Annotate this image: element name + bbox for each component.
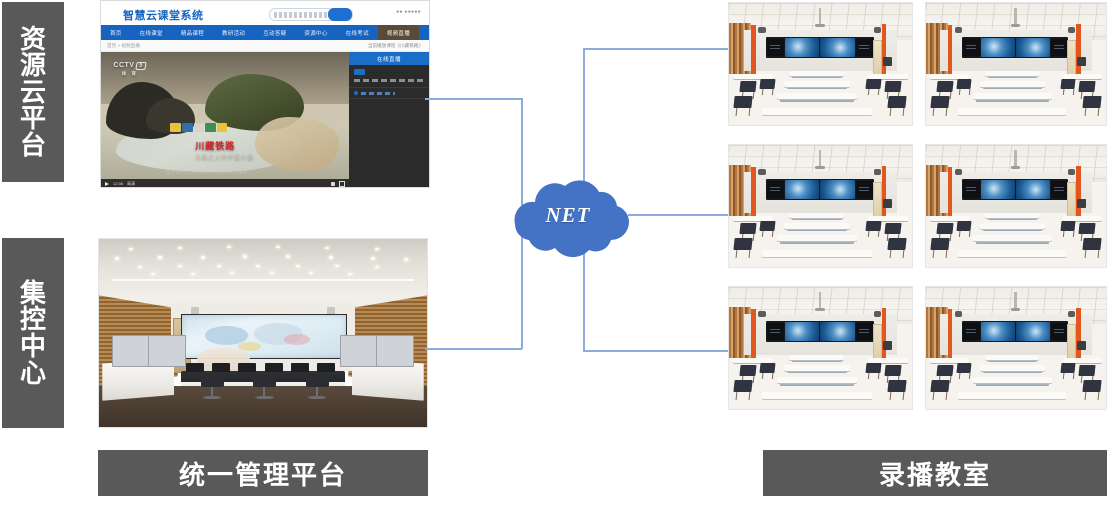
breadcrumb: 首页 > 视频直播 当前播放课程《川藏铁路》 <box>101 40 429 52</box>
breadcrumb-current-course: 当前播放课程《川藏铁路》 <box>368 43 423 49</box>
side-panel-list-item[interactable] <box>349 87 429 99</box>
label-char: 源 <box>20 52 46 79</box>
breadcrumb-path: 首页 > 视频直播 <box>107 43 140 49</box>
nav-item-research[interactable]: 教研活动 <box>213 25 254 40</box>
fullscreen-icon[interactable] <box>339 181 345 187</box>
nav-item-resources[interactable]: 资源中心 <box>295 25 336 40</box>
search-input[interactable] <box>269 8 353 21</box>
classroom-photo-5 <box>728 286 913 410</box>
connector-row3 <box>583 350 728 352</box>
ceiling-microphone-icon <box>1014 150 1017 167</box>
label-char: 控 <box>20 306 46 333</box>
ceiling-camera-icon <box>955 27 962 33</box>
search-button[interactable] <box>328 8 352 21</box>
video-player[interactable]: CCTV 5 体 育 川藏铁路 天路之上的中国力量 世界屋脊上的超级工程正在加速… <box>101 52 349 188</box>
office-chair <box>201 374 224 398</box>
label-char: 资 <box>20 26 46 53</box>
connector-platform-horizontal <box>425 98 522 100</box>
list-item-text <box>361 92 395 95</box>
classroom-display-board <box>766 37 874 58</box>
office-chair <box>253 374 276 398</box>
classroom-photo-1 <box>728 2 913 126</box>
cctv-text: CCTV <box>113 62 134 69</box>
webapp-navbar: 首页 在线课堂 精品课程 教研活动 互动答疑 资源中心 在线考试 视频直播 <box>101 25 429 40</box>
nav-item-online-class[interactable]: 在线课堂 <box>131 25 172 40</box>
classroom-display-board <box>962 321 1068 342</box>
video-program-title: 川藏铁路 <box>195 139 235 152</box>
webapp-header: 智慧云课堂系统 ●● ●●●●● <box>101 1 429 25</box>
label-char: 心 <box>20 360 46 387</box>
side-panel-header: 在线直播 <box>349 52 429 65</box>
classroom-display-board <box>962 37 1068 58</box>
cctv-subtitle: 体 育 <box>122 71 138 77</box>
connector-row1 <box>583 48 728 50</box>
video-time: 12:36 <box>113 181 123 186</box>
classroom-photo-2 <box>925 2 1107 126</box>
video-control-bar[interactable]: 12:36 高清 <box>101 179 349 188</box>
classroom-display-board <box>766 179 874 200</box>
side-panel-list-text <box>354 79 424 82</box>
label-char: 中 <box>20 333 46 360</box>
monitor <box>376 335 414 367</box>
classroom-photo-6 <box>925 286 1107 410</box>
list-bullet-icon <box>354 91 358 95</box>
nav-item-quality-course[interactable]: 精品课程 <box>172 25 213 40</box>
footer-label-recording-classroom: 录播教室 <box>763 450 1107 496</box>
network-cloud-label: NET <box>495 172 641 258</box>
connector-control-horizontal <box>425 348 522 350</box>
control-center-photo <box>98 238 428 428</box>
ceiling-camera-icon <box>955 169 962 175</box>
ceiling-microphone-icon <box>1014 292 1017 309</box>
ceiling-camera-icon <box>758 311 765 317</box>
section-label-cloud-platform: 资 源 云 平 台 <box>2 2 64 182</box>
search-placeholder-text <box>274 12 330 18</box>
nav-item-qa[interactable]: 互动答疑 <box>254 25 295 40</box>
connector-cloud-to-right <box>628 214 728 216</box>
nav-item-exam[interactable]: 在线考试 <box>337 25 378 40</box>
ceiling-camera-icon <box>955 311 962 317</box>
play-icon[interactable] <box>105 182 109 186</box>
live-badge <box>354 69 365 75</box>
monitor <box>112 335 150 367</box>
section-label-control-center: 集 控 中 心 <box>2 238 64 428</box>
footer-label-management-platform: 统一管理平台 <box>98 450 428 496</box>
monitor <box>340 335 378 367</box>
ceiling-camera-icon <box>758 169 765 175</box>
ceiling-microphone-icon <box>1014 8 1017 25</box>
classroom-photo-3 <box>728 144 913 268</box>
webapp-body: CCTV 5 体 育 川藏铁路 天路之上的中国力量 世界屋脊上的超级工程正在加速… <box>101 52 429 188</box>
ceiling-camera-icon <box>874 311 881 317</box>
label-char: 平 <box>20 105 46 132</box>
video-quality[interactable]: 高清 <box>127 181 135 187</box>
ceiling-camera-icon <box>874 169 881 175</box>
network-cloud: NET <box>495 172 641 258</box>
ceiling-camera-icon <box>874 27 881 33</box>
nav-item-home[interactable]: 首页 <box>101 25 131 40</box>
classroom-display-board <box>766 321 874 342</box>
user-login-link[interactable]: ●● ●●●●● <box>396 9 421 15</box>
webapp-logo: 智慧云课堂系统 <box>123 7 204 23</box>
ceiling-camera-icon <box>758 27 765 33</box>
ceiling-microphone-icon <box>819 150 822 167</box>
label-char: 云 <box>20 79 46 106</box>
label-char: 集 <box>20 280 46 307</box>
classroom-display-board <box>962 179 1068 200</box>
cloud-platform-screenshot: 智慧云课堂系统 ●● ●●●●● 首页 在线课堂 精品课程 教研活动 互动答疑 … <box>100 0 430 188</box>
cctv-number: 5 <box>136 62 147 70</box>
video-model-train <box>170 123 227 133</box>
monitor <box>148 335 186 367</box>
live-side-panel: 在线直播 <box>349 52 429 188</box>
video-program-subtitle: 天路之上的中国力量 <box>195 153 254 161</box>
office-chair <box>306 374 329 398</box>
topology-diagram: 资 源 云 平 台 集 控 中 心 智慧云课堂系统 ●● ●●●●● 首页 在线… <box>0 0 1107 510</box>
ceiling-microphone-icon <box>819 292 822 309</box>
video-caption: 世界屋脊上的超级工程正在加速推进 <box>165 169 248 175</box>
classroom-photo-4 <box>925 144 1107 268</box>
nav-item-live-video[interactable]: 视频直播 <box>378 25 419 40</box>
label-char: 台 <box>20 132 46 159</box>
cctv-channel-logo: CCTV 5 体 育 <box>113 62 146 77</box>
volume-icon[interactable] <box>331 182 335 186</box>
ceiling-microphone-icon <box>819 8 822 25</box>
